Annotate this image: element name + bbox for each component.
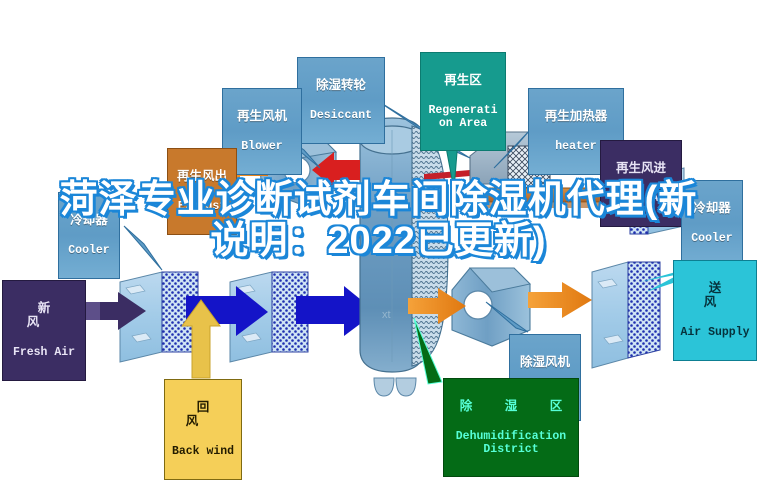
label-dehum-blower-cn: 除湿风机 xyxy=(514,355,576,369)
label-regen-area-en: Regenerati on Area xyxy=(425,105,501,131)
label-fresh-air-en: Fresh Air xyxy=(7,347,81,360)
schematic-canvas: xt xyxy=(0,0,757,488)
label-dehum-district-en: Dehumidification District xyxy=(448,431,574,457)
label-air-supply-cn: 送 风 xyxy=(678,281,752,309)
label-desiccant-en: Desiccant xyxy=(302,110,380,123)
label-regen-blower-cn: 再生风机 xyxy=(227,109,297,123)
label-cooler-left-en: Cooler xyxy=(63,245,115,258)
label-desiccant[interactable]: 除湿转轮 Desiccant xyxy=(297,57,385,144)
label-air-supply-en: Air Supply xyxy=(678,327,752,340)
filter-panel-right xyxy=(592,262,660,368)
label-dehum-district[interactable]: 除 湿 区 Dehumidification District xyxy=(443,378,579,477)
label-desiccant-cn: 除湿转轮 xyxy=(302,78,380,92)
label-fresh-air-regen-cn: 再生风进 xyxy=(605,161,677,175)
label-fresh-air-cn: 新 风 xyxy=(7,301,81,329)
dry-air-arrow-2 xyxy=(528,282,592,318)
label-regen-blower-en: Blower xyxy=(227,141,297,154)
label-cooler-left[interactable]: 冷却器 Cooler xyxy=(58,192,120,279)
label-back-wind-en: Back wind xyxy=(169,446,237,459)
svg-text:xt: xt xyxy=(382,309,391,321)
leader-cooler-left xyxy=(124,226,162,270)
label-regen-area[interactable]: 再生区 Regenerati on Area xyxy=(420,52,506,151)
label-cooler-right-cn: 冷却器 xyxy=(686,201,738,215)
label-regen-area-cn: 再生区 xyxy=(425,73,501,87)
label-exhaust[interactable]: 再生风出 Exhaust xyxy=(167,148,237,235)
label-air-supply[interactable]: 送 风 Air Supply xyxy=(673,260,757,361)
label-fresh-air-regen[interactable]: 再生风进 Fresh Air xyxy=(600,140,682,227)
label-fresh-air[interactable]: 新 风 Fresh Air xyxy=(2,280,86,381)
desiccant-rotor: xt xyxy=(360,118,448,396)
label-exhaust-cn: 再生风出 xyxy=(172,169,232,183)
label-exhaust-en: Exhaust xyxy=(172,201,232,214)
label-cooler-right[interactable]: 冷却器 Cooler xyxy=(681,180,743,267)
label-regen-heater-cn: 再生加热器 xyxy=(533,109,619,123)
label-back-wind[interactable]: 回 风 Back wind xyxy=(164,379,242,480)
label-cooler-right-en: Cooler xyxy=(686,233,738,246)
label-back-wind-cn: 回 风 xyxy=(169,400,237,428)
label-dehum-district-cn: 除 湿 区 xyxy=(448,399,574,413)
label-cooler-left-cn: 冷却器 xyxy=(63,213,115,227)
label-fresh-air-regen-en: Fresh Air xyxy=(605,193,677,206)
